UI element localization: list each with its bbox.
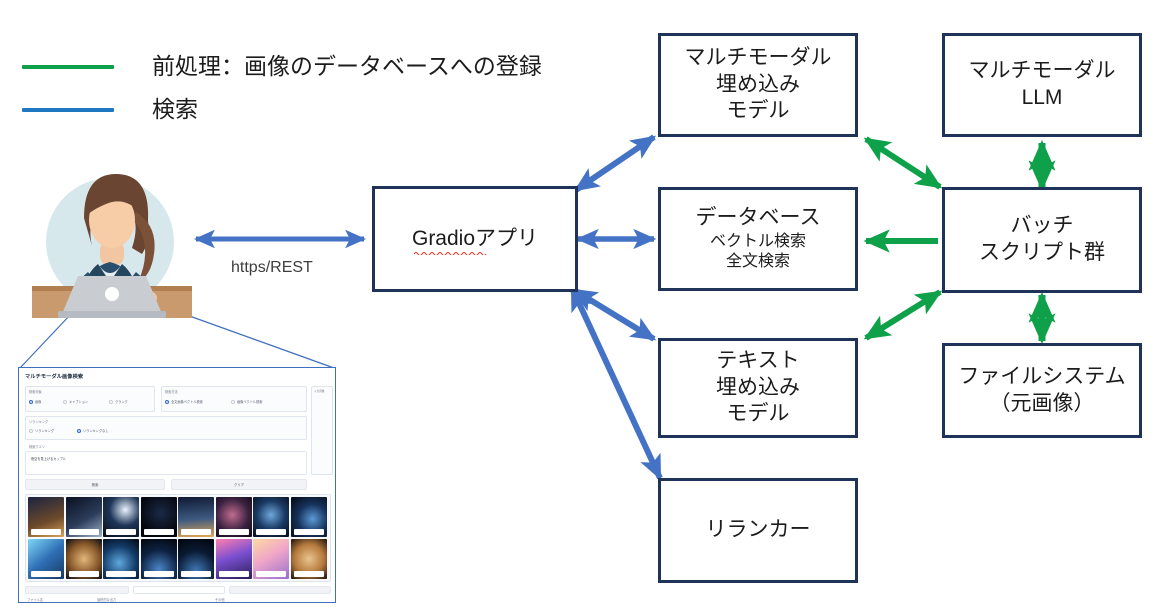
thumbnail-footer-field-0[interactable] bbox=[25, 602, 89, 603]
legend-label-search: 検索 bbox=[152, 98, 198, 121]
gallery-item[interactable] bbox=[291, 539, 327, 579]
radio-label: リランキングなし bbox=[83, 428, 108, 433]
node-filesystem-line-1: ファイルシステム bbox=[958, 364, 1125, 391]
user-illustration bbox=[32, 172, 192, 318]
edge-app-to-reranker bbox=[572, 288, 660, 478]
thumbnail-search-target-panel bbox=[25, 386, 155, 412]
edge-label-https-rest: https/REST bbox=[231, 259, 313, 277]
node-database-sub-1: ベクトル検索 bbox=[710, 232, 806, 252]
thumbnail-radio-target-0[interactable]: 画像 bbox=[29, 399, 41, 404]
thumbnail-clear-button[interactable]: クリア bbox=[171, 479, 307, 490]
node-database[interactable]: データベース ベクトル検索 全文検索 bbox=[658, 187, 858, 291]
thumbnail-footer-button-left[interactable] bbox=[25, 586, 129, 594]
radio-dot-icon bbox=[109, 400, 113, 404]
node-text-embedding-line-1: テキスト bbox=[716, 348, 799, 375]
thumbnail-uploaded-image-pane[interactable] bbox=[311, 386, 333, 475]
thumbnail-footer-button-right[interactable] bbox=[229, 586, 331, 594]
legend-item-search: 検索 bbox=[22, 98, 198, 121]
node-gradio-app[interactable]: Gradioアプリ bbox=[372, 186, 578, 292]
thumbnail-query-input[interactable]: 夜空を見上げるカップル bbox=[25, 451, 307, 475]
node-multimodal-embedding-model[interactable]: マルチモーダル 埋め込み モデル bbox=[658, 33, 858, 137]
thumbnail-radio-rerank-0[interactable]: リランキング bbox=[29, 428, 54, 433]
thumbnail-radio-method-1[interactable]: 画像ベクトル検索 bbox=[231, 399, 263, 404]
edge-batch-to-mm-embedding bbox=[866, 139, 940, 187]
radio-dot-icon bbox=[29, 400, 33, 404]
gallery-item[interactable] bbox=[178, 497, 214, 537]
radio-label: 画像ベクトル検索 bbox=[237, 399, 263, 404]
edge-app-to-mm-embedding bbox=[576, 137, 654, 190]
thumbnail-radio-method-0[interactable]: 全文画像ベクトル検索 bbox=[165, 399, 203, 404]
radio-label: リランキング bbox=[35, 428, 54, 433]
radio-dot-icon bbox=[165, 400, 169, 404]
node-gradio-app-label: Gradioアプリ bbox=[412, 226, 538, 253]
thumbnail-search-method-caption: 検索方法 bbox=[165, 389, 178, 394]
thumbnail-query-caption: 検索クエリ bbox=[29, 444, 45, 449]
app-screenshot-thumbnail[interactable]: マルチモーダル画像検索 検索対象 画像 キャプション クランク 検索方法 全文画… bbox=[18, 367, 336, 603]
gallery-item[interactable] bbox=[178, 539, 214, 579]
node-reranker[interactable]: リランカー bbox=[658, 478, 858, 583]
legend-label-preprocess: 前処理：画像のデータベースへの登録 bbox=[152, 55, 542, 78]
node-batch-line-1: バッチ bbox=[1011, 213, 1074, 240]
gallery-item[interactable] bbox=[28, 539, 64, 579]
radio-dot-icon bbox=[231, 400, 235, 404]
radio-label: 全文画像ベクトル検索 bbox=[171, 399, 203, 404]
node-filesystem[interactable]: ファイルシステム （元画像） bbox=[942, 343, 1142, 438]
gallery-item[interactable] bbox=[66, 497, 102, 537]
node-mm-llm-line-2: LLM bbox=[1022, 85, 1063, 112]
thumbnail-uploaded-image-caption: 入力画像 bbox=[314, 389, 324, 393]
thumbnail-reranking-panel bbox=[25, 416, 307, 440]
node-batch-scripts[interactable]: バッチ スクリプト群 bbox=[942, 187, 1142, 293]
thumbnail-search-button-label: 検索 bbox=[92, 482, 99, 487]
radio-dot-icon bbox=[29, 429, 33, 433]
gallery-item[interactable] bbox=[253, 497, 289, 537]
legend-item-preprocess: 前処理：画像のデータベースへの登録 bbox=[22, 55, 542, 78]
gallery-item[interactable] bbox=[216, 539, 252, 579]
gallery-item[interactable] bbox=[103, 539, 139, 579]
thumbnail-reranking-caption: リランキング bbox=[29, 419, 48, 424]
spellcheck-underline-icon bbox=[414, 251, 488, 255]
gallery-item[interactable] bbox=[28, 497, 64, 537]
legend-swatch-blue bbox=[22, 108, 114, 112]
thumbnail-clear-button-label: クリア bbox=[234, 482, 244, 487]
radio-dot-icon bbox=[77, 429, 81, 433]
gallery-item[interactable] bbox=[141, 539, 177, 579]
thumbnail-footer-field-1[interactable] bbox=[95, 602, 209, 603]
radio-label: 画像 bbox=[35, 399, 41, 404]
gallery-item[interactable] bbox=[291, 497, 327, 537]
node-text-embedding-line-2: 埋め込み bbox=[716, 375, 800, 402]
radio-label: キャプション bbox=[69, 399, 88, 404]
node-multimodal-llm[interactable]: マルチモーダル LLM bbox=[942, 33, 1142, 137]
thumbnail-search-target-caption: 検索対象 bbox=[29, 389, 42, 394]
node-batch-line-2: スクリプト群 bbox=[979, 240, 1105, 267]
thumbnail-radio-target-2[interactable]: クランク bbox=[109, 399, 128, 404]
node-mm-embedding-line-2: 埋め込み bbox=[716, 72, 800, 99]
node-filesystem-line-2: （元画像） bbox=[990, 391, 1095, 418]
thumbnail-query-value: 夜空を見上げるカップル bbox=[31, 456, 66, 461]
node-mm-embedding-line-3: モデル bbox=[727, 98, 790, 125]
thumbnail-app-title: マルチモーダル画像検索 bbox=[25, 373, 335, 380]
node-database-sub-2: 全文検索 bbox=[726, 252, 790, 272]
thumbnail-footer-field-2[interactable] bbox=[213, 602, 329, 603]
node-mm-embedding-line-1: マルチモーダル bbox=[685, 45, 832, 72]
thumbnail-radio-rerank-1[interactable]: リランキングなし bbox=[77, 428, 108, 433]
radio-label: クランク bbox=[115, 399, 128, 404]
thumbnail-search-button[interactable]: 検索 bbox=[25, 479, 165, 490]
node-reranker-label: リランカー bbox=[706, 517, 811, 544]
gallery-item[interactable] bbox=[216, 497, 252, 537]
thumbnail-radio-target-1[interactable]: キャプション bbox=[63, 399, 88, 404]
node-mm-llm-line-1: マルチモーダル bbox=[969, 58, 1116, 85]
legend-swatch-green bbox=[22, 65, 114, 69]
node-text-embedding-model[interactable]: テキスト 埋め込み モデル bbox=[658, 338, 858, 438]
gallery-item[interactable] bbox=[103, 497, 139, 537]
radio-dot-icon bbox=[63, 400, 67, 404]
node-text-embedding-line-3: モデル bbox=[727, 401, 790, 428]
diagram-canvas: 前処理：画像のデータベースへの登録 検索 bbox=[0, 0, 1164, 610]
gallery-item[interactable] bbox=[253, 539, 289, 579]
thumbnail-footer-input-mid[interactable] bbox=[133, 586, 225, 594]
edge-batch-to-text-embedding bbox=[866, 292, 940, 338]
thumbnail-results-gallery[interactable] bbox=[25, 494, 331, 582]
gallery-item[interactable] bbox=[66, 539, 102, 579]
node-database-title: データベース bbox=[696, 205, 821, 232]
edge-app-to-text-embedding bbox=[574, 290, 654, 339]
gallery-item[interactable] bbox=[141, 497, 177, 537]
